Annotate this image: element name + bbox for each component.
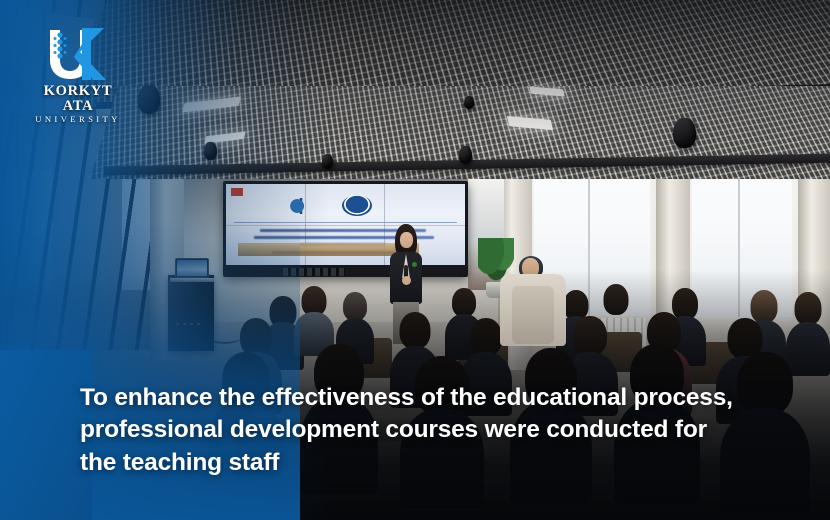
audience-member: [786, 292, 830, 376]
presentation-screen: [223, 181, 468, 277]
ceiling-speaker: [204, 142, 217, 160]
caption-text: To enhance the effectiveness of the educ…: [80, 382, 735, 479]
presenter-hand: [402, 276, 411, 285]
ceiling-speaker: [138, 85, 160, 114]
logo-name: KORKYT ATA: [30, 84, 126, 113]
slide-logo-right-icon: [342, 195, 372, 216]
ceiling-speaker: [459, 146, 472, 164]
slide-divider: [234, 222, 457, 223]
logo-subtitle: UNIVERSITY: [30, 113, 126, 126]
slide-logo-left-icon: [288, 198, 314, 214]
rack-indicator-lights: [176, 323, 202, 325]
ceiling-speaker: [322, 154, 333, 169]
wall-panel: [0, 170, 52, 290]
laptop: [175, 258, 209, 278]
logo-monogram-uk-icon: [30, 26, 126, 82]
university-logo: KORKYT ATA UNIVERSITY: [30, 26, 126, 110]
ceiling-speaker: [673, 118, 696, 148]
armchair-seat: [512, 286, 554, 344]
av-rack-cabinet: [168, 275, 214, 351]
logo-wordmark: KORKYT ATA UNIVERSITY: [30, 84, 126, 126]
laptop-screen: [177, 260, 207, 276]
presenter-badge: [412, 262, 417, 267]
laptop-base: [170, 278, 214, 282]
presenter-face: [400, 232, 413, 248]
screen-surface: [226, 184, 465, 265]
screen-control-strip: [283, 268, 345, 276]
ceiling-speaker: [464, 96, 474, 109]
event-photo-card: KORKYT ATA UNIVERSITY To enhance the eff…: [0, 0, 830, 520]
screen-corner-marker: [231, 188, 243, 196]
